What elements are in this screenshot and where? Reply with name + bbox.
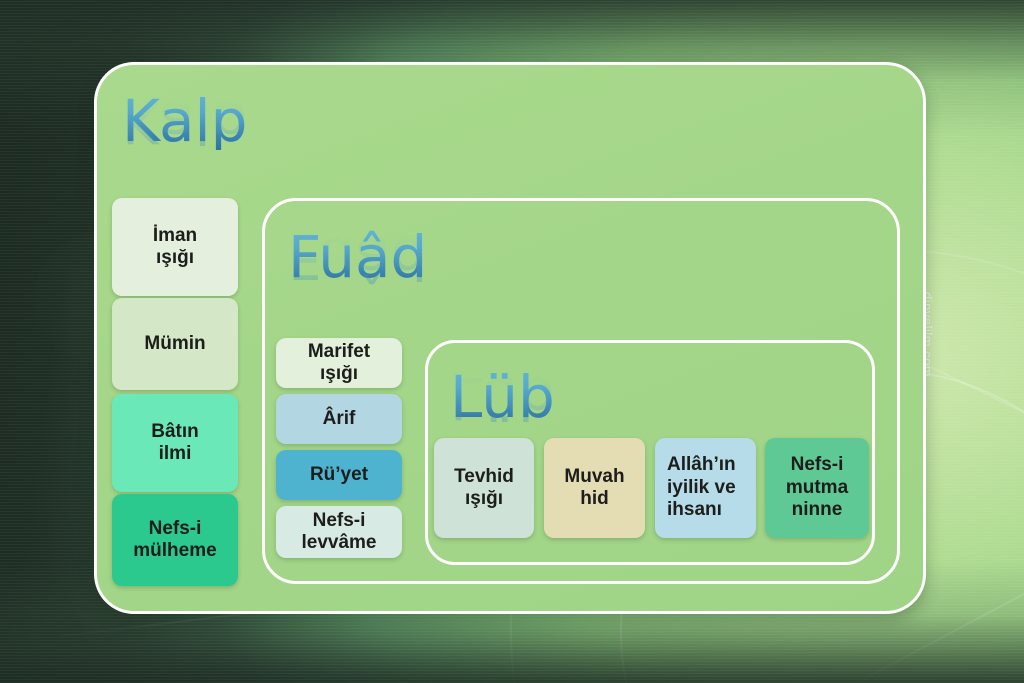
heading-fuad-group: Fuâd Fuâd [288,228,427,345]
box-label: Nefs-imülheme [133,518,216,563]
kalp-box-2[interactable]: Bâtınilmi [112,394,238,492]
heading-kalp-group: Kalp Kalp [122,92,248,209]
box-label: Allâh’ıniyilik veihsanı [667,454,736,521]
box-label: Bâtınilmi [151,421,199,466]
box-label: İmanışığı [153,225,197,270]
box-label: Marifetışığı [308,341,370,386]
fuad-box-0[interactable]: Marifetışığı [276,338,402,388]
box-label: Rü’yet [310,464,368,486]
kalp-box-3[interactable]: Nefs-imülheme [112,494,238,586]
fuad-box-1[interactable]: Ârif [276,394,402,444]
heading-fuad-reflection: Fuâd [288,229,427,287]
box-label: Muvahhid [564,466,624,511]
kalp-box-1[interactable]: Mümin [112,298,238,390]
fuad-box-2[interactable]: Rü’yet [276,450,402,500]
box-label: Ârif [323,408,356,430]
box-label: Nefs-imutmaninne [786,454,848,521]
fuad-box-3[interactable]: Nefs-ilevvâme [276,506,402,558]
kalp-box-0[interactable]: İmanışığı [112,198,238,296]
box-label: Tevhidışığı [454,466,514,511]
box-label: Mümin [144,333,205,355]
heading-lub-reflection: Lüb [450,369,555,427]
lub-box-1[interactable]: Muvahhid [544,438,645,538]
lub-box-2[interactable]: Allâh’ıniyilik veihsanı [655,438,756,538]
box-label: Nefs-ilevvâme [301,510,376,555]
slide-canvas: dinvelilm.com Kalp Kalp Fuâd Fuâd Lüb Lü… [0,0,1024,683]
lub-box-0[interactable]: Tevhidışığı [434,438,534,538]
lub-box-3[interactable]: Nefs-imutmaninne [765,438,869,538]
heading-kalp-reflection: Kalp [122,93,248,151]
